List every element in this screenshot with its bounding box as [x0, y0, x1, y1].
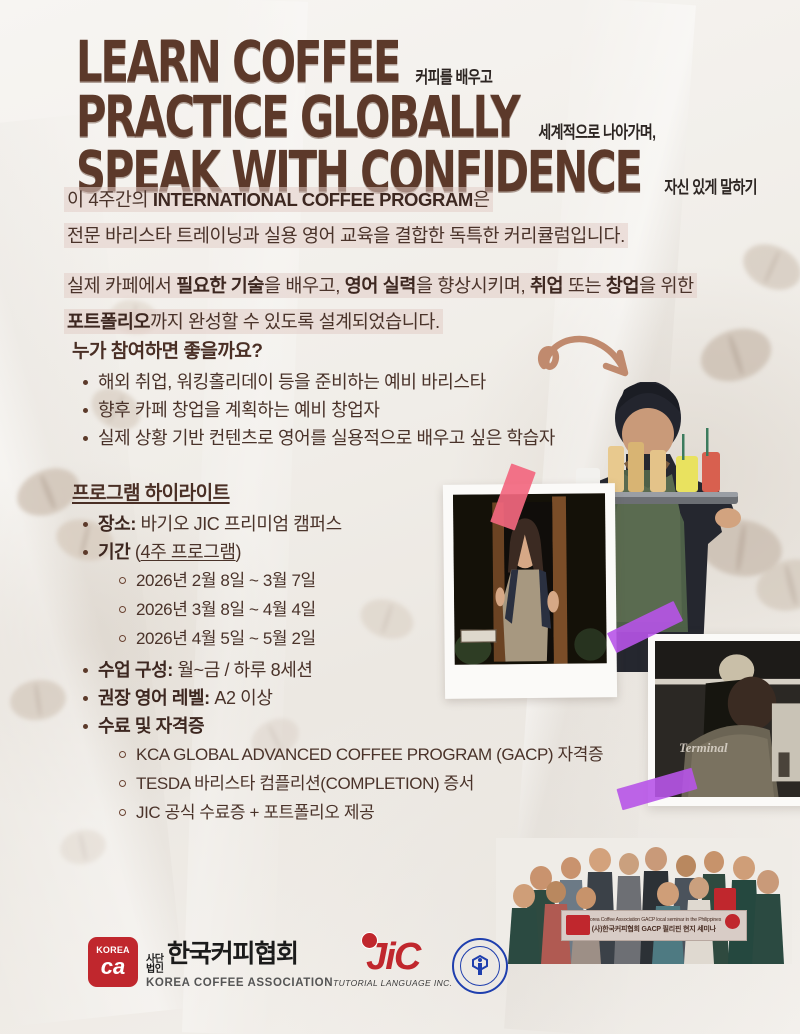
kca-korean-row: 사단법인 한국커피협회 [146, 934, 333, 975]
period-paren-close: ) [236, 542, 242, 562]
period-label: 기간 [98, 542, 130, 562]
schedule-value: 월~금 / 하루 8세션 [173, 660, 313, 680]
audience-heading: 누가 참여하면 좋을까요? [72, 336, 632, 363]
kca-mark-icon: KOREA ca [88, 937, 138, 987]
headline-line-1: LEARN COFFEE커피를 배우고 [76, 46, 786, 90]
cert-list: KCA GLOBAL ADVANCED COFFEE PROGRAM (GACP… [98, 740, 692, 827]
period-paren-text: 4주 프로그램 [141, 542, 236, 562]
poster-root: LEARN COFFEE커피를 배우고 PRACTICE GLOBALLY세계적… [0, 0, 800, 1034]
level-value: A2 이상 [210, 688, 273, 708]
schedule-label: 수업 구성: [98, 660, 173, 680]
location-label: 장소: [98, 514, 136, 534]
terminal-logo-text: Terminal [679, 740, 728, 756]
intro-p2-l1-c: 을 배우고, [264, 275, 345, 296]
cert-label: 수료 및 자격증 [98, 716, 204, 736]
level-label: 권장 영어 레벨: [98, 688, 210, 708]
tesda-seal-inner [460, 946, 500, 986]
jic-wordmark: JiC [333, 938, 452, 976]
intro-p2-skill: 필요한 기술 [176, 275, 264, 296]
intro-paragraph-2-line-1: 실제 카페에서 필요한 기술을 배우고, 영어 실력을 향상시키며, 취업 또는… [64, 272, 724, 302]
highlight-certifications: 수료 및 자격증 KCA GLOBAL ADVANCED COFFEE PROG… [98, 713, 692, 827]
coffee-bean-decor [751, 552, 800, 617]
intro-p2-l1-a: 실제 카페에서 [67, 275, 176, 296]
coffee-bean-decor [57, 826, 109, 869]
open-sign [460, 629, 496, 642]
cafe-entrance-polaroid [443, 483, 617, 699]
intro-block: 이 4주간의 INTERNATIONAL COFFEE PROGRAM은 전문 … [64, 186, 724, 344]
intro-p2-startup: 창업 [606, 275, 639, 296]
footer-logos: KOREA ca 사단법인 한국커피협회 KOREA COFFEE ASSOCI… [0, 924, 800, 1012]
coffee-bean-decor [736, 236, 800, 299]
tesda-emblem-icon [467, 953, 493, 979]
banner-text-en: Korea Coffee Association GACP local semi… [587, 917, 721, 923]
headline-line-2: PRACTICE GLOBALLY세계적으로 나아가며, [76, 101, 786, 145]
coffee-bean-decor [7, 676, 68, 723]
intro-p1-l2: 전문 바리스타 트레이닝과 실용 영어 교육을 결합한 독특한 커리큘럼입니다. [64, 223, 628, 248]
intro-p2-english: 영어 실력 [345, 275, 416, 296]
intro-paragraph-1-line-1: 이 4주간의 INTERNATIONAL COFFEE PROGRAM은 [64, 186, 724, 216]
jic-logo: JiC TUTORIAL LANGUAGE INC. [333, 938, 452, 988]
intro-p2-l1-g: 또는 [563, 275, 606, 296]
intro-p1-l1-c: 은 [473, 189, 490, 210]
intro-p1-l1-a: 이 4주간의 [67, 189, 153, 210]
kca-logo: KOREA ca 사단법인 한국커피협회 KOREA COFFEE ASSOCI… [88, 934, 333, 989]
intro-paragraph-1-line-2: 전문 바리스타 트레이닝과 실용 영어 교육을 결합한 독특한 커리큘럼입니다. [64, 222, 724, 252]
cert-item: TESDA 바리스타 컴플리션(COMPLETION) 증서 [136, 769, 692, 798]
intro-p2-portfolio: 포트폴리오 [67, 311, 150, 332]
intro-p2-l2-b: 까지 완성할 수 있도록 설계되었습니다. [150, 311, 440, 332]
headline-block: LEARN COFFEE커피를 배우고 PRACTICE GLOBALLY세계적… [76, 46, 786, 178]
kca-mark-bottom-text: ca [101, 956, 125, 978]
cert-item: KCA GLOBAL ADVANCED COFFEE PROGRAM (GACP… [136, 740, 692, 769]
cafe-entrance-photo [453, 493, 607, 665]
tesda-seal-logo [452, 938, 508, 994]
kca-korean-name: 한국커피협회 [167, 934, 298, 970]
location-value: 바기오 JIC 프리미엄 캠퍼스 [136, 514, 342, 534]
kca-tiny-prefix: 사단법인 [146, 955, 164, 975]
intro-p1-l1-program-name: INTERNATIONAL COFFEE PROGRAM [153, 189, 473, 210]
jic-globe-icon [361, 932, 378, 949]
intro-p2-l1-i: 을 위한 [639, 275, 694, 296]
cert-item: JIC 공식 수료증 + 포트폴리오 제공 [136, 798, 692, 827]
intro-p2-l1-e: 을 향상시키며, [416, 275, 530, 296]
intro-p2-employment: 취업 [530, 275, 563, 296]
intro-gap [64, 258, 724, 272]
jic-tagline: TUTORIAL LANGUAGE INC. [333, 978, 452, 988]
period-paren-open: ( [130, 542, 140, 562]
kca-text-block: 사단법인 한국커피협회 KOREA COFFEE ASSOCIATION [146, 934, 333, 989]
kca-english-name: KOREA COFFEE ASSOCIATION [146, 977, 333, 989]
